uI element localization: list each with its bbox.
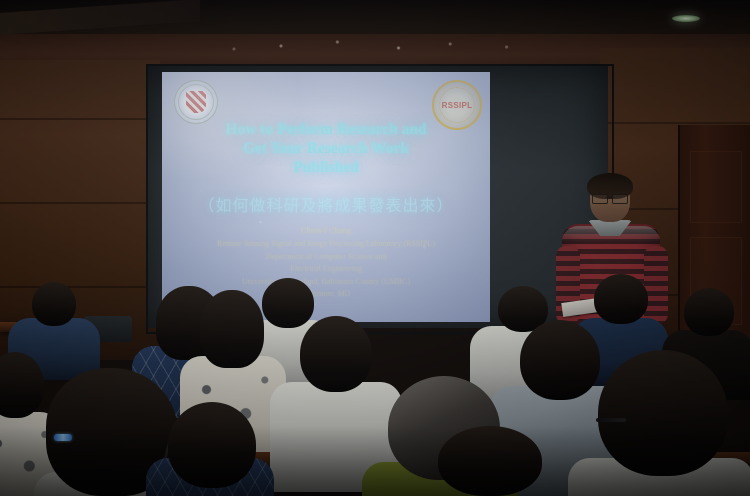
- wall-reflection-speckle: [140, 36, 610, 56]
- head: [520, 320, 600, 400]
- ceiling-light-icon: [672, 15, 700, 22]
- eyeglasses-icon: [592, 194, 628, 202]
- eyeglasses-icon: [596, 418, 626, 422]
- presenter-right-arm: [644, 246, 668, 324]
- projection-screen: RSSIPL How to Perform Research and Get Y…: [162, 72, 490, 322]
- projection-glare: [162, 72, 302, 182]
- head: [684, 288, 734, 336]
- head: [168, 402, 256, 488]
- head: [594, 274, 648, 324]
- head: [598, 350, 728, 476]
- head: [200, 290, 264, 368]
- head: [262, 278, 314, 328]
- head: [32, 282, 76, 326]
- lecture-hall-photo: RSSIPL How to Perform Research and Get Y…: [0, 0, 750, 496]
- head: [438, 426, 542, 496]
- hair-clip: [54, 434, 72, 441]
- left-wall-panel: [0, 60, 160, 360]
- head: [300, 316, 372, 392]
